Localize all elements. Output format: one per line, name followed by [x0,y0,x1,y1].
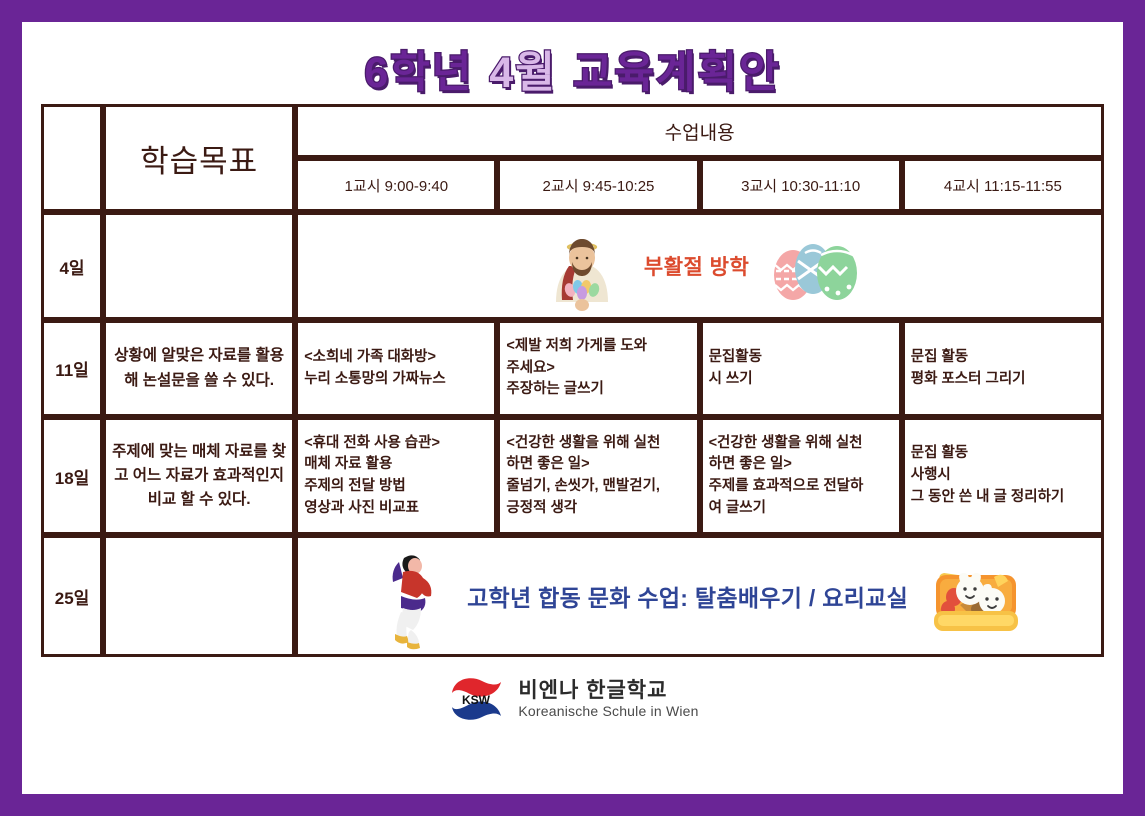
task-line: 시 쓰기 [709,369,893,391]
header-period-2: 2교시 9:45-10:25 [497,158,699,212]
task-line: 문집활동 [709,347,893,369]
header-period-4: 4교시 11:15-11:55 [902,158,1104,212]
row-day-label: 4일 [41,212,103,320]
title-part-grade: 6학년 [364,52,473,95]
school-name: 비엔나 한글학교 Koreanische Schule in Wien [518,679,698,719]
banner-label: 고학년 합동 문화 수업: 탈춤배우기 / 요리교실 [467,579,908,613]
table-row: 18일 주제에 맞는 매체 자료를 찾고 어느 자료가 효과적인지 비교 할 수… [41,417,1104,535]
row-goal [103,535,295,657]
task-line: 평화 포스터 그리기 [911,369,1095,391]
school-logo: KSW 비엔나 한글학교 Koreanische Schule in Wien [22,673,1123,725]
row-banner-cell: 고학년 합동 문화 수업: 탈춤배우기 / 요리교실 [295,535,1104,657]
header-class-content: 수업내용 [295,104,1104,158]
task-line: 주제의 전달 방법 [304,476,488,498]
task-line: 그 동안 쓴 내 글 정리하기 [911,487,1095,509]
task-line: 줄넘기, 손씻가, 맨발걷기, [506,476,690,498]
plan-table-wrap: 학습목표 수업내용 1교시 9:00-9:40 2교시 9:45-10:25 3… [22,104,1123,657]
row-goal: 주제에 맞는 매체 자료를 찾고 어느 자료가 효과적인지 비교 할 수 있다. [103,417,295,535]
task-line: <건강한 생활을 위해 실천 [709,433,893,455]
task-line: 주세요> [506,358,690,380]
row-period-2: <제발 저희 가게를 도와 주세요> 주장하는 글쓰기 [497,320,699,417]
row-day-label: 11일 [41,320,103,417]
row-period-2: <건강한 생활을 위해 실천 하면 좋은 일> 줄넘기, 손씻가, 맨발걷기, … [497,417,699,535]
header-learning-goal: 학습목표 [103,104,295,212]
task-line: 영상과 사진 비교표 [304,498,488,520]
row-period-1: <소희네 가족 대화방> 누리 소통망의 가짜뉴스 [295,320,497,417]
page-title: 6학년4월교육계획안 [22,22,1123,104]
task-line: 긍정적 생각 [506,498,690,520]
task-line: <건강한 생활을 위해 실천 [506,433,690,455]
banner-label: 부활절 방학 [644,251,749,281]
task-line: 주장하는 글쓰기 [506,379,690,401]
header-period-1: 1교시 9:00-9:40 [295,158,497,212]
poster-inner: 6학년4월교육계획안 학습목표 수업내용 1교시 9:00-9:40 2교시 9… [22,22,1123,794]
row-day-label: 25일 [41,535,103,657]
row-banner-cell: 부활절 방학 [295,212,1104,320]
row-period-1: <휴대 전화 사용 습관> 매체 자료 활용 주제의 전달 방법 영상과 사진 … [295,417,497,535]
school-name-kr: 비엔나 한글학교 [518,679,698,703]
table-row: 11일 상황에 알맞은 자료를 활용해 논설문을 쓸 수 있다. <소희네 가족… [41,320,1104,417]
header-day-col [41,104,103,212]
task-line: 문집 활동 [911,347,1095,369]
bento-box-icon [924,553,1028,639]
school-name-de: Koreanische Schule in Wien [518,703,698,719]
plan-table: 학습목표 수업내용 1교시 9:00-9:40 2교시 9:45-10:25 3… [41,104,1104,657]
title-part-subject: 교육계획안 [573,52,781,95]
ksw-taegeuk-logo: KSW [446,673,506,725]
task-line: <제발 저희 가게를 도와 [506,336,690,358]
task-line: <휴대 전화 사용 습관> [304,433,488,455]
row-period-4: 문집 활동 평화 포스터 그리기 [902,320,1104,417]
title-part-month: 4월 [489,52,556,95]
table-header-row-1: 학습목표 수업내용 [41,104,1104,158]
task-line: <소희네 가족 대화방> [304,347,488,369]
task-line: 하면 좋은 일> [709,454,893,476]
row-period-4: 문집 활동 사행시 그 동안 쓴 내 글 정리하기 [902,417,1104,535]
task-line: 사행시 [911,465,1095,487]
row-day-label: 18일 [41,417,103,535]
row-period-3: 문집활동 시 쓰기 [700,320,902,417]
task-line: 문집 활동 [911,443,1095,465]
easter-eggs-icon [765,227,863,305]
banner-easter: 부활절 방학 [304,219,1095,313]
banner-culture-class: 고학년 합동 문화 수업: 탈춤배우기 / 요리교실 [304,542,1095,650]
row-goal [103,212,295,320]
task-line: 매체 자료 활용 [304,454,488,476]
table-row: 25일 [41,535,1104,657]
title-text: 6학년4월교육계획안 [364,52,780,95]
task-line: 누리 소통망의 가짜뉴스 [304,369,488,391]
jesus-easter-icon [536,220,628,312]
task-line: 주제를 효과적으로 전달하 [709,476,893,498]
task-line: 여 글쓰기 [709,498,893,520]
row-period-3: <건강한 생활을 위해 실천 하면 좋은 일> 주제를 효과적으로 전달하 여 … [700,417,902,535]
svg-text:KSW: KSW [462,693,491,707]
header-period-3: 3교시 10:30-11:10 [700,158,902,212]
poster-page: 6학년4월교육계획안 학습목표 수업내용 1교시 9:00-9:40 2교시 9… [0,0,1145,816]
task-line: 하면 좋은 일> [506,454,690,476]
row-goal: 상황에 알맞은 자료를 활용해 논설문을 쓸 수 있다. [103,320,295,417]
table-row: 4일 [41,212,1104,320]
korean-dancer-icon [371,542,451,650]
